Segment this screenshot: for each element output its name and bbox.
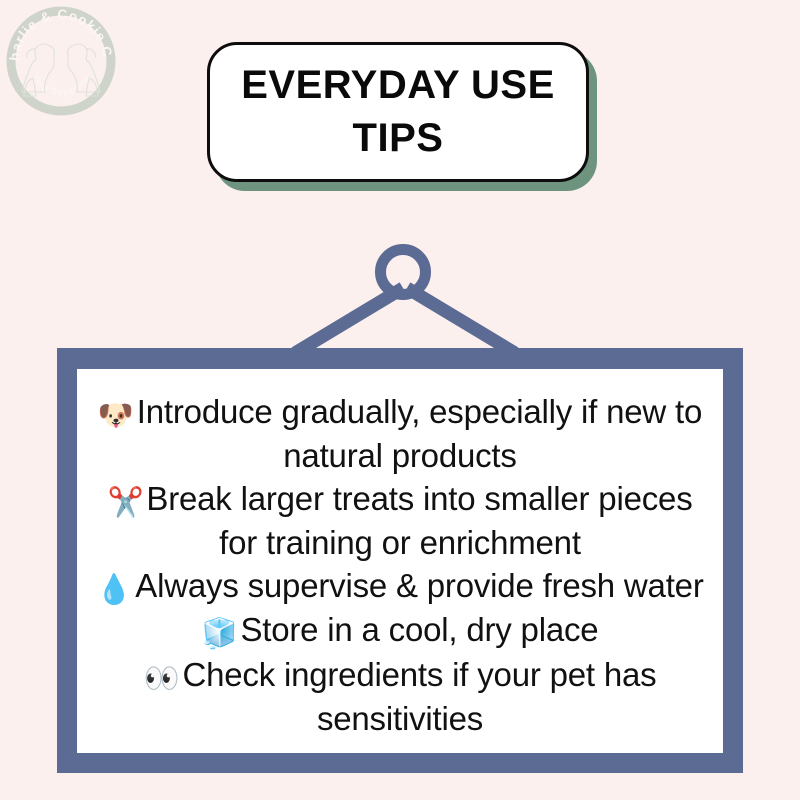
tip-text: Introduce gradually, especially if new t… (137, 393, 702, 474)
tip-item: 👀Check ingredients if your pet has sensi… (85, 654, 715, 741)
hanger-cord-left (295, 288, 403, 353)
eyes-emoji: 👀 (144, 663, 180, 695)
sign-board: 🐶Introduce gradually, especially if new … (57, 348, 743, 773)
logo-dog-silhouettes (22, 44, 100, 96)
title-banner-card: EVERYDAY USE TIPS (207, 42, 589, 182)
brand-watermark-logo: Charlie & Cookie Co. Dog Supplies (2, 2, 120, 120)
hanger-cord-right (407, 288, 515, 353)
tip-text: Store in a cool, dry place (240, 611, 598, 648)
scissors-emoji: ✂️ (107, 487, 143, 519)
ice-cube-emoji: 🧊 (202, 618, 238, 650)
hanging-ring-and-cords (270, 238, 540, 363)
title-banner: EVERYDAY USE TIPS (207, 42, 589, 182)
logo-ring (11, 11, 111, 111)
tip-text: Break larger treats into smaller pieces … (146, 480, 692, 561)
tip-item: 🧊Store in a cool, dry place (202, 609, 599, 653)
tip-item: 💧Always supervise & provide fresh water (96, 565, 703, 609)
page-title: EVERYDAY USE TIPS (223, 59, 573, 165)
logo-arc-bottom-text: Dog Supplies (29, 74, 93, 98)
tip-item: ✂️Break larger treats into smaller piece… (85, 478, 715, 565)
sign-board-interior: 🐶Introduce gradually, especially if new … (77, 369, 723, 753)
tip-text: Always supervise & provide fresh water (135, 567, 703, 604)
hanger-ring-icon (381, 250, 426, 295)
droplet-emoji: 💧 (96, 574, 132, 606)
logo-arc-top-text: Charlie & Cookie Co. (2, 2, 115, 62)
tip-text: Check ingredients if your pet has sensit… (182, 656, 656, 737)
tip-item: 🐶Introduce gradually, especially if new … (85, 391, 715, 478)
dog-face-emoji: 🐶 (98, 400, 134, 432)
